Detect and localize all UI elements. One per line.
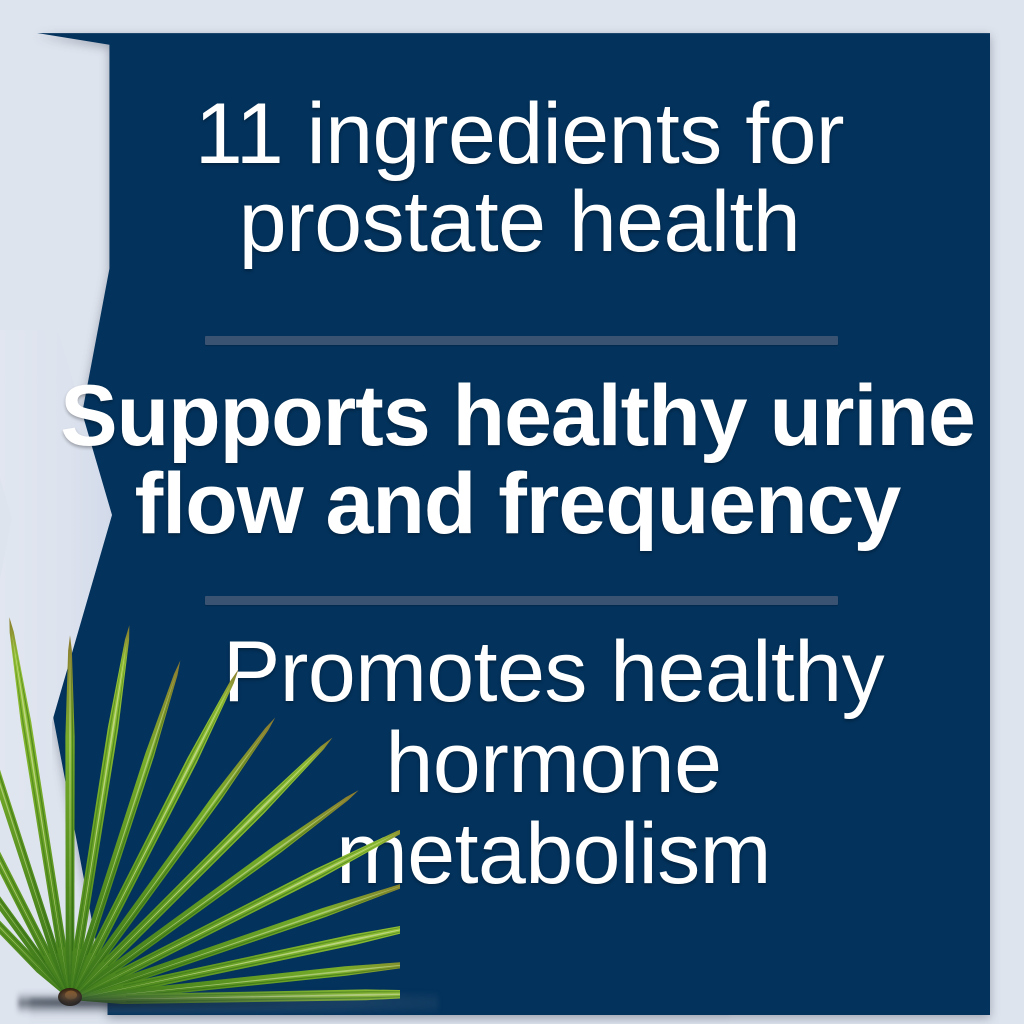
benefit-line: metabolism: [77, 809, 1024, 900]
divider-rule-2: [205, 596, 838, 605]
benefit-line: prostate health: [43, 179, 996, 267]
benefit-line: hormone: [77, 718, 1024, 809]
benefit-line: Supports healthy urine: [41, 373, 994, 461]
benefits-content: 11 ingredients for prostate health Suppo…: [37, 33, 990, 1015]
benefit-line: 11 ingredients for: [43, 91, 996, 179]
benefit-line: Promotes healthy: [77, 627, 1024, 718]
promo-card-canvas: 11 ingredients for prostate health Suppo…: [0, 0, 1024, 1024]
benefit-item-urine-flow: Supports healthy urine flow and frequenc…: [37, 373, 994, 548]
benefit-line: flow and frequency: [41, 461, 994, 549]
divider-rule-1: [205, 336, 838, 345]
benefit-item-hormone-metabolism: Promotes healthy hormone metabolism: [37, 627, 1024, 900]
benefit-item-ingredients: 11 ingredients for prostate health: [37, 91, 996, 266]
